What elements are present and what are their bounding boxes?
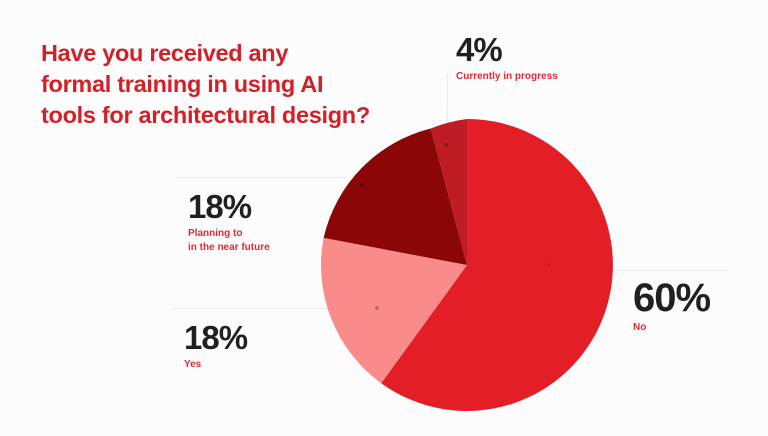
callout-planning: 18% Planning to in the near future bbox=[188, 190, 270, 254]
leader-line-no bbox=[600, 270, 728, 271]
slice-marker-no bbox=[547, 263, 551, 267]
callout-label-yes: Yes bbox=[184, 358, 247, 372]
callout-no: 60% No bbox=[633, 278, 710, 335]
callout-value-no: 60% bbox=[633, 278, 710, 318]
callout-label-progress-line-1: Currently in progress bbox=[456, 70, 558, 84]
callout-yes: 18% Yes bbox=[184, 321, 247, 372]
chart-area: 4% Currently in progress 18% Planning to… bbox=[0, 0, 768, 436]
slice-marker-progress bbox=[444, 143, 448, 147]
callout-label-progress: Currently in progress bbox=[456, 70, 558, 84]
callout-value-progress: 4% bbox=[456, 33, 558, 66]
callout-value-yes: 18% bbox=[184, 321, 247, 354]
callout-label-no-line-1: No bbox=[633, 321, 710, 335]
callout-currently-in-progress: 4% Currently in progress bbox=[456, 33, 558, 84]
callout-label-planning-line-2: in the near future bbox=[188, 241, 270, 255]
pie-chart-infographic: Have you received any formal training in… bbox=[0, 0, 768, 436]
slice-marker-yes bbox=[375, 306, 379, 310]
callout-value-planning: 18% bbox=[188, 190, 270, 223]
slice-marker-planning bbox=[360, 183, 364, 187]
callout-label-yes-line-1: Yes bbox=[184, 358, 247, 372]
callout-label-no: No bbox=[633, 321, 710, 335]
pie-chart bbox=[321, 119, 613, 411]
callout-label-planning: Planning to in the near future bbox=[188, 227, 270, 254]
callout-label-planning-line-1: Planning to bbox=[188, 227, 270, 241]
